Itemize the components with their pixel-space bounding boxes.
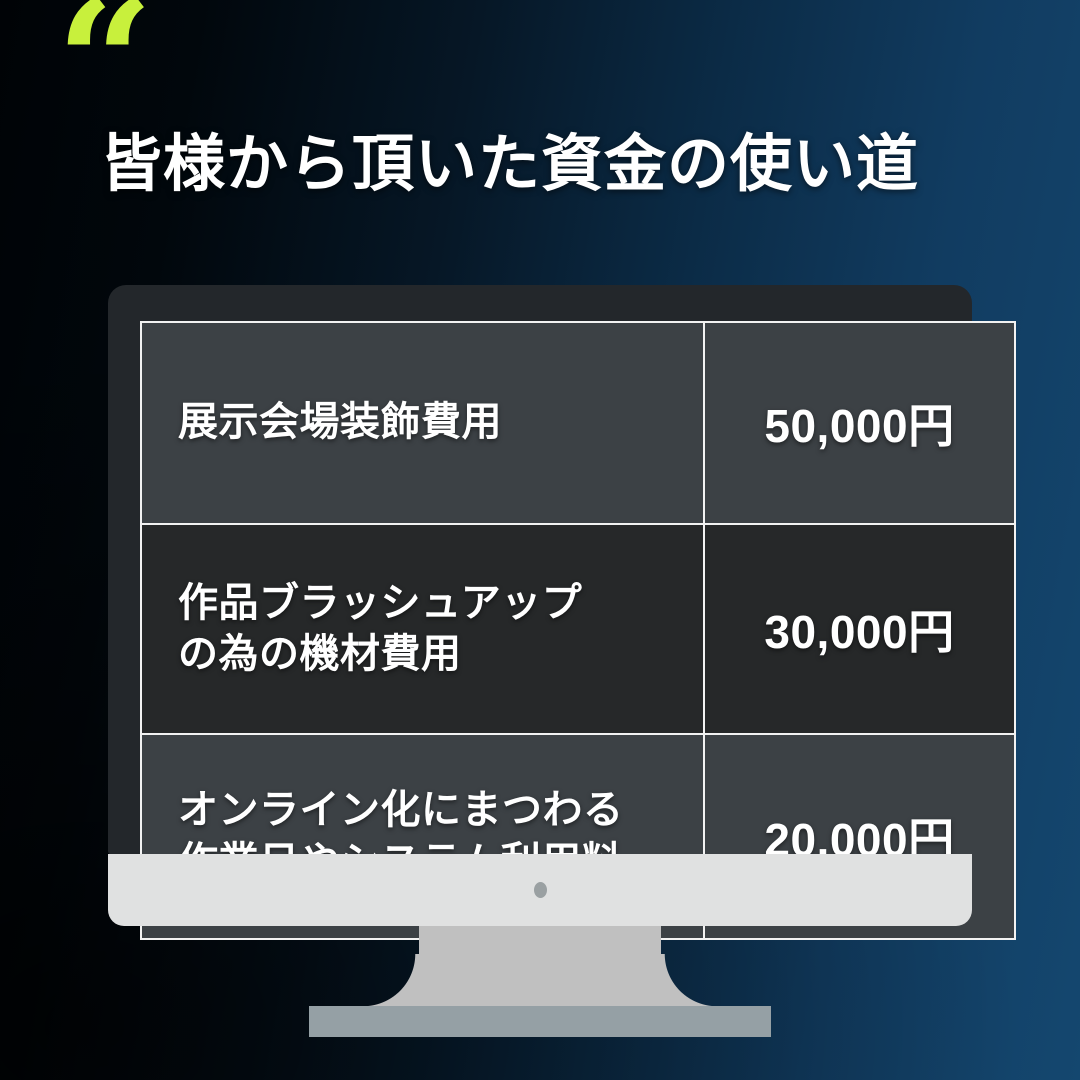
monitor-stand-neck [419, 926, 661, 1006]
page-title: 皆様から頂いた資金の使い道 [100, 131, 919, 199]
table-cell-label: 展示会場装飾費用 [141, 322, 704, 524]
table-cell-amount: 30,000円 [704, 524, 1015, 734]
power-indicator-dot-icon [534, 882, 547, 898]
expense-label-line1: 作品ブラッシュアップ [178, 581, 582, 625]
slide-canvas: “ 皆様から頂いた資金の使い道 展示会場装飾費用 50,000円 作品ブラッシュ… [0, 0, 1080, 1080]
expense-label-line2: の為の機材費用 [178, 632, 462, 676]
quotation-mark-icon: “ [56, 0, 152, 148]
monitor-illustration: 展示会場装飾費用 50,000円 作品ブラッシュアップ の為の機材費用 30,0… [108, 285, 972, 1037]
monitor-stand-base [309, 1006, 771, 1037]
funding-usage-table: 展示会場装飾費用 50,000円 作品ブラッシュアップ の為の機材費用 30,0… [140, 321, 1016, 940]
table-cell-amount: 50,000円 [704, 322, 1015, 524]
monitor-bezel: 展示会場装飾費用 50,000円 作品ブラッシュアップ の為の機材費用 30,0… [108, 285, 972, 855]
table-row: 作品ブラッシュアップ の為の機材費用 30,000円 [141, 524, 1015, 734]
table-cell-label: 作品ブラッシュアップ の為の機材費用 [141, 524, 704, 734]
table-row: 展示会場装飾費用 50,000円 [141, 322, 1015, 524]
expense-label-line1: オンライン化にまつわる [178, 788, 624, 832]
monitor-chin [108, 854, 972, 926]
expense-label-line1: 展示会場装飾費用 [178, 400, 502, 444]
